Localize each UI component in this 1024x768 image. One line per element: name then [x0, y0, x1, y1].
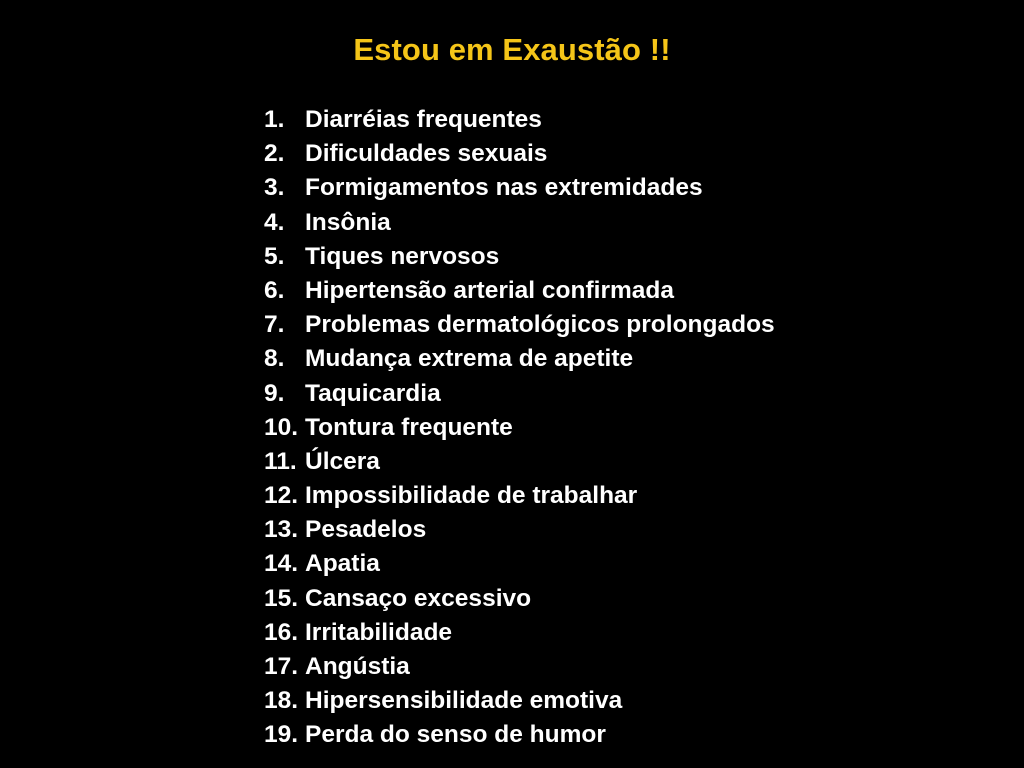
list-item-number: 15. — [264, 582, 305, 616]
list-item-label: Apatia — [305, 547, 380, 581]
list-item-number: 17. — [264, 650, 305, 684]
list-item-label: Mudança extrema de apetite — [305, 342, 633, 376]
list-item-number: 1. — [264, 103, 305, 137]
list-item-number: 12. — [264, 479, 305, 513]
list-item-number: 13. — [264, 513, 305, 547]
list-item-label: Perda do senso de humor — [305, 718, 606, 752]
list-item: 18.Hipersensibilidade emotiva — [264, 684, 984, 718]
list-item-label: Irritabilidade — [305, 616, 452, 650]
list-item-number: 9. — [264, 377, 305, 411]
list-item: 16.Irritabilidade — [264, 616, 984, 650]
list-item: 10.Tontura frequente — [264, 411, 984, 445]
list-item: 19.Perda do senso de humor — [264, 718, 984, 752]
list-item-number: 18. — [264, 684, 305, 718]
list-item: 17.Angústia — [264, 650, 984, 684]
presentation-slide: Estou em Exaustão !! 1.Diarréias frequen… — [0, 0, 1024, 768]
list-item-number: 6. — [264, 274, 305, 308]
list-item-label: Taquicardia — [305, 377, 441, 411]
list-item: 3.Formigamentos nas extremidades — [264, 171, 984, 205]
list-item-label: Cansaço excessivo — [305, 582, 531, 616]
list-item-number: 14. — [264, 547, 305, 581]
list-item-label: Tiques nervosos — [305, 240, 499, 274]
list-item-number: 3. — [264, 171, 305, 205]
page-title: Estou em Exaustão !! — [0, 30, 1024, 70]
list-item: 13.Pesadelos — [264, 513, 984, 547]
list-item-number: 19. — [264, 718, 305, 752]
list-item-label: Hipertensão arterial confirmada — [305, 274, 674, 308]
list-item: 15.Cansaço excessivo — [264, 582, 984, 616]
list-item: 4.Insônia — [264, 206, 984, 240]
list-item-label: Impossibilidade de trabalhar — [305, 479, 637, 513]
list-item-number: 7. — [264, 308, 305, 342]
list-item-label: Úlcera — [305, 445, 380, 479]
list-item-label: Formigamentos nas extremidades — [305, 171, 703, 205]
list-item: 12.Impossibilidade de trabalhar — [264, 479, 984, 513]
list-item-number: 10. — [264, 411, 305, 445]
list-item-number: 4. — [264, 206, 305, 240]
list-item: 5.Tiques nervosos — [264, 240, 984, 274]
list-item-label: Tontura frequente — [305, 411, 513, 445]
list-item-number: 2. — [264, 137, 305, 171]
list-item-label: Problemas dermatológicos prolongados — [305, 308, 775, 342]
list-item: 2.Dificuldades sexuais — [264, 137, 984, 171]
list-item: 9.Taquicardia — [264, 377, 984, 411]
list-item-number: 11. — [264, 445, 305, 479]
list-item-number: 8. — [264, 342, 305, 376]
list-item: 11.Úlcera — [264, 445, 984, 479]
list-item: 14.Apatia — [264, 547, 984, 581]
symptom-list: 1.Diarréias frequentes2.Dificuldades sex… — [264, 103, 984, 753]
list-item-label: Angústia — [305, 650, 410, 684]
list-item: 8.Mudança extrema de apetite — [264, 342, 984, 376]
list-item: 1.Diarréias frequentes — [264, 103, 984, 137]
list-item-label: Hipersensibilidade emotiva — [305, 684, 622, 718]
list-item-label: Dificuldades sexuais — [305, 137, 547, 171]
list-item-label: Diarréias frequentes — [305, 103, 542, 137]
list-item-label: Pesadelos — [305, 513, 426, 547]
list-item: 6.Hipertensão arterial confirmada — [264, 274, 984, 308]
list-item-label: Insônia — [305, 206, 391, 240]
list-item: 7.Problemas dermatológicos prolongados — [264, 308, 984, 342]
list-item-number: 16. — [264, 616, 305, 650]
list-item-number: 5. — [264, 240, 305, 274]
